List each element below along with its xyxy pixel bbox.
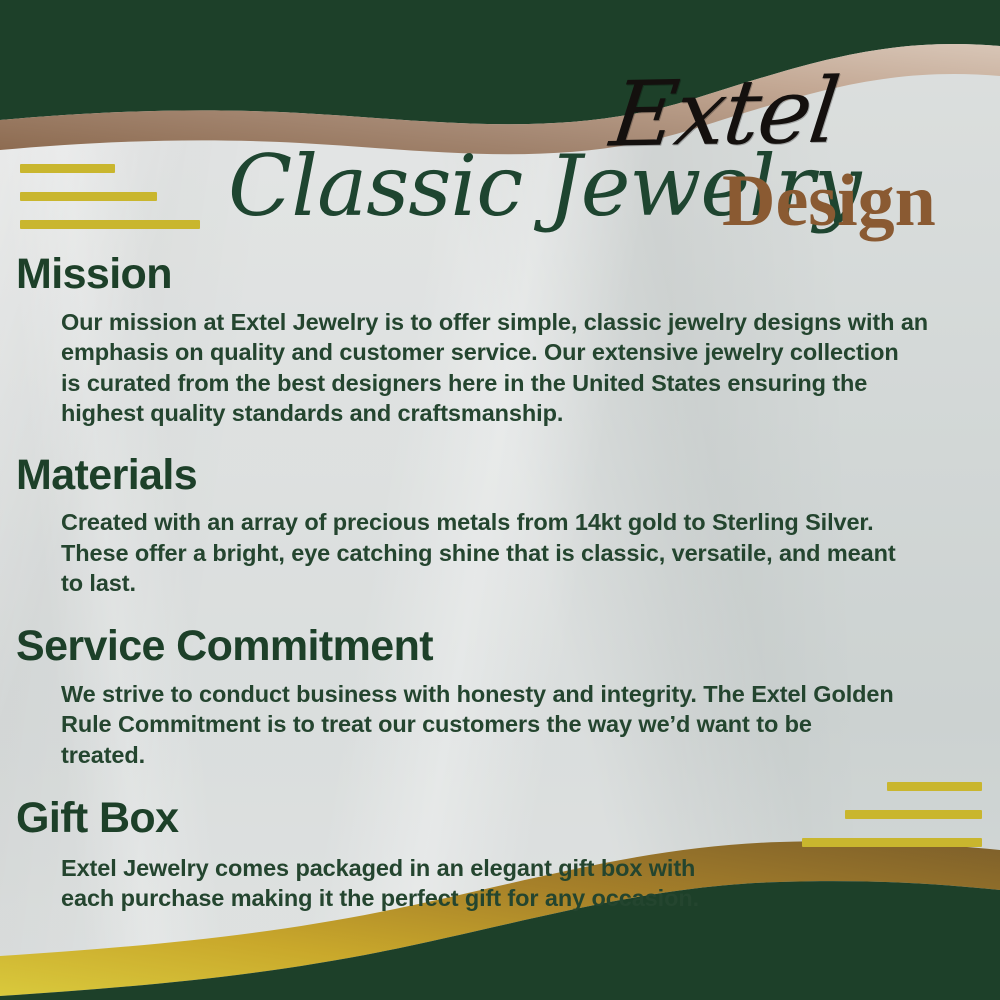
section-heading-materials: Materials [16, 453, 1000, 499]
poster-canvas: Extel Classic Jewelry Design Mission Our… [0, 0, 1000, 1000]
section-body-gift-box: Extel Jewelry comes packaged in an elega… [61, 853, 1000, 914]
section-mission: Mission Our mission at Extel Jewelry is … [0, 252, 1000, 429]
section-heading-service-commitment: Service Commitment [16, 624, 1000, 670]
section-gift-box: Gift Box Extel Jewelry comes packaged in… [0, 796, 1000, 914]
section-body-mission: Our mission at Extel Jewelry is to offer… [61, 307, 1000, 429]
section-body-service-commitment: We strive to conduct business with hones… [61, 679, 1000, 771]
section-body-materials: Created with an array of precious metals… [61, 507, 1000, 599]
decorative-rules-top-left [20, 164, 200, 229]
gold-rule-medium [20, 192, 157, 201]
section-heading-mission: Mission [16, 252, 1000, 298]
section-heading-gift-box: Gift Box [16, 796, 1000, 842]
content-sections: Mission Our mission at Extel Jewelry is … [0, 252, 1000, 914]
gold-rule-short [20, 164, 115, 173]
gold-rule-long [20, 220, 200, 229]
title-secondary: Design [722, 164, 936, 238]
section-service-commitment: Service Commitment We strive to conduct … [0, 624, 1000, 770]
section-materials: Materials Created with an array of preci… [0, 453, 1000, 599]
